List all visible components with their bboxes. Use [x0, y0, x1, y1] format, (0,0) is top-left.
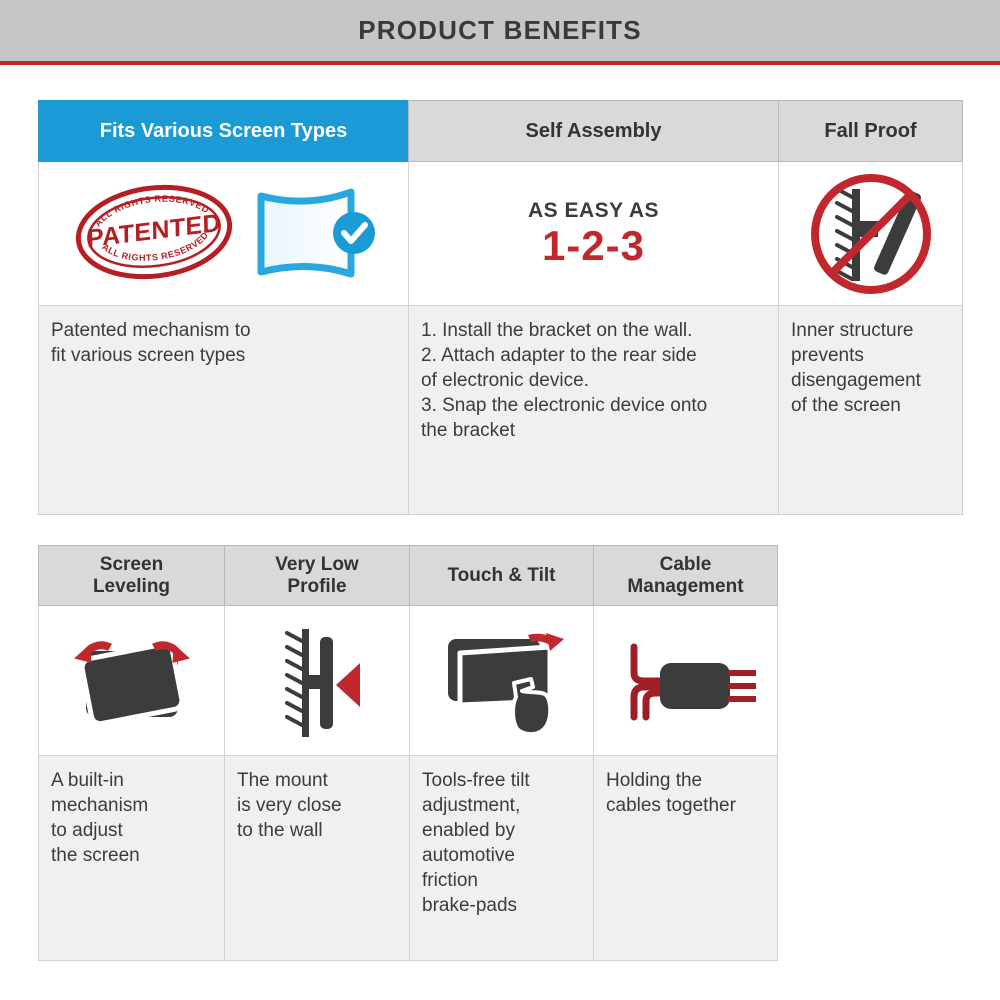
description-cell-fits-various-screen-types: Patented mechanism to fit various screen… — [38, 306, 408, 515]
header-label: Fits Various Screen Types — [100, 120, 348, 143]
description-line: the screen — [51, 843, 214, 868]
column-header-fall-proof[interactable]: Fall Proof — [778, 100, 963, 162]
icon-cell-self-assembly: AS EASY AS 1-2-3 — [408, 162, 778, 306]
cable-management-icon — [616, 621, 756, 741]
header-label: Leveling — [93, 576, 170, 598]
page-header: PRODUCT BENEFITS — [0, 0, 1000, 61]
column-header-screen-leveling[interactable]: Screen Leveling — [38, 545, 224, 606]
icon-cell-fall-proof — [778, 162, 963, 306]
column-header-touch-and-tilt[interactable]: Touch & Tilt — [409, 545, 593, 606]
description-line: the bracket — [421, 418, 768, 443]
touch-and-tilt-hand-icon — [432, 617, 572, 745]
description-line: mechanism — [51, 793, 214, 818]
description-line: adjustment, — [422, 793, 583, 818]
as-easy-as-123-icon: AS EASY AS 1-2-3 — [528, 200, 659, 267]
header-label: Touch & Tilt — [447, 565, 555, 587]
description-cell-screen-leveling: A built-in mechanism to adjust the scree… — [38, 756, 224, 961]
description-line: friction — [422, 868, 583, 893]
page-title: PRODUCT BENEFITS — [358, 15, 642, 46]
benefits-table-secondary: Screen Leveling Very Low Profile Touch &… — [38, 545, 778, 961]
header-label: Cable — [627, 554, 743, 576]
description-cell-touch-and-tilt: Tools-free tilt adjustment, enabled by a… — [409, 756, 593, 961]
description-line: Inner structure — [791, 318, 952, 343]
description-line: 3. Snap the electronic device onto — [421, 393, 768, 418]
column-header-very-low-profile[interactable]: Very Low Profile — [224, 545, 409, 606]
patented-stamp-curved-screen-check-icon: ALL RIGHTS RESERVED ALL RIGHTS RESERVED … — [59, 170, 389, 298]
column-header-fits-various-screen-types[interactable]: Fits Various Screen Types — [38, 100, 408, 162]
header-label: Screen — [93, 554, 170, 576]
screen-leveling-rotation-icon — [62, 617, 202, 745]
description-line: to the wall — [237, 818, 399, 843]
description-line: 2. Attach adapter to the rear side — [421, 343, 768, 368]
description-cell-self-assembly: 1. Install the bracket on the wall. 2. A… — [408, 306, 778, 515]
header-label: Profile — [275, 576, 358, 598]
description-line: disengagement — [791, 368, 952, 393]
description-line: cables together — [606, 793, 767, 818]
icon-cell-touch-and-tilt — [409, 606, 593, 756]
header-label: Very Low — [275, 554, 358, 576]
description-line: to adjust — [51, 818, 214, 843]
table-header-row: Screen Leveling Very Low Profile Touch &… — [38, 545, 778, 606]
description-line: Tools-free tilt — [422, 768, 583, 793]
description-line: prevents — [791, 343, 952, 368]
one-two-three-label: 1-2-3 — [528, 225, 659, 267]
column-header-cable-management[interactable]: Cable Management — [593, 545, 778, 606]
icon-cell-fits-various-screen-types: ALL RIGHTS RESERVED ALL RIGHTS RESERVED … — [38, 162, 408, 306]
description-line: automotive — [422, 843, 583, 868]
column-header-self-assembly[interactable]: Self Assembly — [408, 100, 778, 162]
header-divider-rule — [0, 61, 1000, 65]
description-line: Patented mechanism to — [51, 318, 398, 343]
table-description-row: A built-in mechanism to adjust the scree… — [38, 756, 778, 961]
benefits-table-primary: Fits Various Screen Types Self Assembly … — [38, 100, 963, 515]
as-easy-as-label: AS EASY AS — [528, 200, 659, 221]
description-line: brake-pads — [422, 893, 583, 918]
description-line: A built-in — [51, 768, 214, 793]
table-icon-row — [38, 606, 778, 756]
header-label: Management — [627, 576, 743, 598]
icon-cell-very-low-profile — [224, 606, 409, 756]
icon-cell-cable-management — [593, 606, 778, 756]
icon-cell-screen-leveling — [38, 606, 224, 756]
description-cell-fall-proof: Inner structure prevents disengagement o… — [778, 306, 963, 515]
description-line: of electronic device. — [421, 368, 768, 393]
low-profile-wall-gap-icon — [252, 617, 382, 745]
description-line: The mount — [237, 768, 399, 793]
description-line: enabled by — [422, 818, 583, 843]
description-line: 1. Install the bracket on the wall. — [421, 318, 768, 343]
table-description-row: Patented mechanism to fit various screen… — [38, 306, 963, 515]
table-header-row: Fits Various Screen Types Self Assembly … — [38, 100, 963, 162]
description-line: Holding the — [606, 768, 767, 793]
description-line: of the screen — [791, 393, 952, 418]
description-line: is very close — [237, 793, 399, 818]
header-label: Fall Proof — [824, 120, 916, 143]
table-icon-row: ALL RIGHTS RESERVED ALL RIGHTS RESERVED … — [38, 162, 963, 306]
description-line: fit various screen types — [51, 343, 398, 368]
description-cell-very-low-profile: The mount is very close to the wall — [224, 756, 409, 961]
no-falling-screen-prohibition-icon — [806, 169, 936, 299]
header-label: Self Assembly — [526, 120, 662, 143]
description-cell-cable-management: Holding the cables together — [593, 756, 778, 961]
